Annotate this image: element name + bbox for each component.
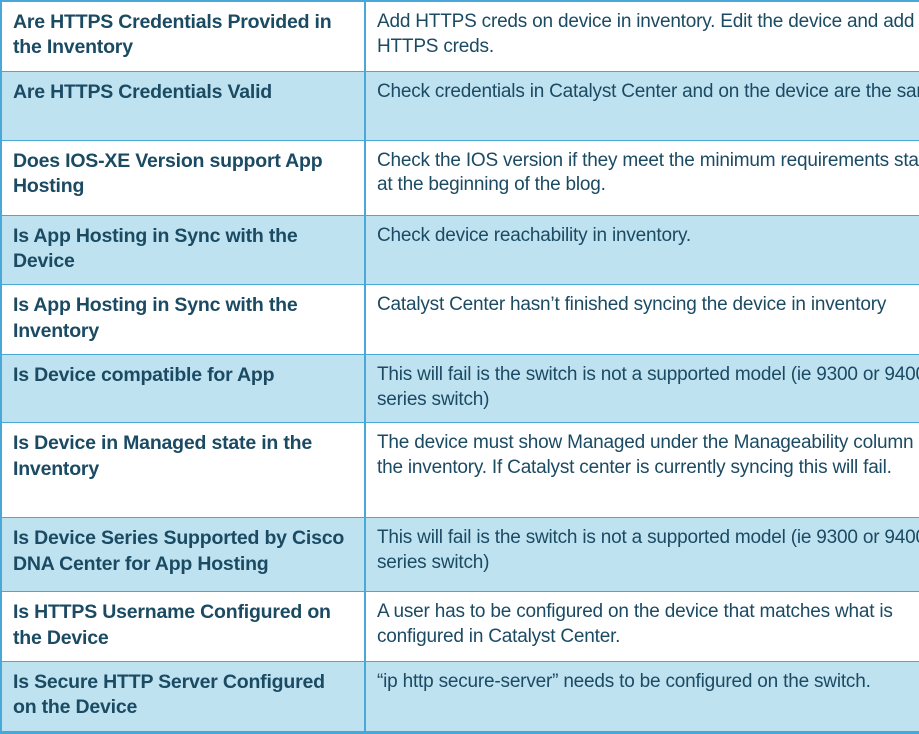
check-description-cell: This will fail is the switch is not a su… bbox=[365, 518, 919, 592]
table-row: Are HTTPS Credentials Provided in the In… bbox=[1, 1, 919, 71]
check-name-cell: Is App Hosting in Sync with the Inventor… bbox=[1, 285, 365, 355]
check-name-cell: Are HTTPS Credentials Provided in the In… bbox=[1, 1, 365, 71]
check-name-cell: Is HTTPS Username Configured on the Devi… bbox=[1, 592, 365, 662]
table-body: Are HTTPS Credentials Provided in the In… bbox=[1, 1, 919, 732]
check-description-cell: Add HTTPS creds on device in inventory. … bbox=[365, 1, 919, 71]
table-row: Is Device compatible for App This will f… bbox=[1, 355, 919, 423]
check-description-cell: “ip http secure-server” needs to be conf… bbox=[365, 662, 919, 733]
check-description-cell: This will fail is the switch is not a su… bbox=[365, 355, 919, 423]
table-row: Is Secure HTTP Server Configured on the … bbox=[1, 662, 919, 733]
check-name-cell: Are HTTPS Credentials Valid bbox=[1, 71, 365, 140]
check-name-cell: Does IOS-XE Version support App Hosting bbox=[1, 140, 365, 215]
check-description-cell: Check credentials in Catalyst Center and… bbox=[365, 71, 919, 140]
troubleshooting-checks-table: Are HTTPS Credentials Provided in the In… bbox=[0, 0, 919, 734]
check-name-cell: Is App Hosting in Sync with the Device bbox=[1, 215, 365, 285]
table-row: Are HTTPS Credentials Valid Check creden… bbox=[1, 71, 919, 140]
check-description-cell: The device must show Managed under the M… bbox=[365, 423, 919, 518]
check-name-cell: Is Secure HTTP Server Configured on the … bbox=[1, 662, 365, 733]
table-row: Does IOS-XE Version support App Hosting … bbox=[1, 140, 919, 215]
check-name-cell: Is Device in Managed state in the Invent… bbox=[1, 423, 365, 518]
table-row: Is Device in Managed state in the Invent… bbox=[1, 423, 919, 518]
check-description-cell: Catalyst Center hasn’t finished syncing … bbox=[365, 285, 919, 355]
table-row: Is App Hosting in Sync with the Inventor… bbox=[1, 285, 919, 355]
table-row: Is App Hosting in Sync with the Device C… bbox=[1, 215, 919, 285]
table-row: Is HTTPS Username Configured on the Devi… bbox=[1, 592, 919, 662]
table-row: Is Device Series Supported by Cisco DNA … bbox=[1, 518, 919, 592]
check-name-cell: Is Device compatible for App bbox=[1, 355, 365, 423]
check-name-cell: Is Device Series Supported by Cisco DNA … bbox=[1, 518, 365, 592]
check-description-cell: A user has to be configured on the devic… bbox=[365, 592, 919, 662]
check-description-cell: Check the IOS version if they meet the m… bbox=[365, 140, 919, 215]
check-description-cell: Check device reachability in inventory. bbox=[365, 215, 919, 285]
